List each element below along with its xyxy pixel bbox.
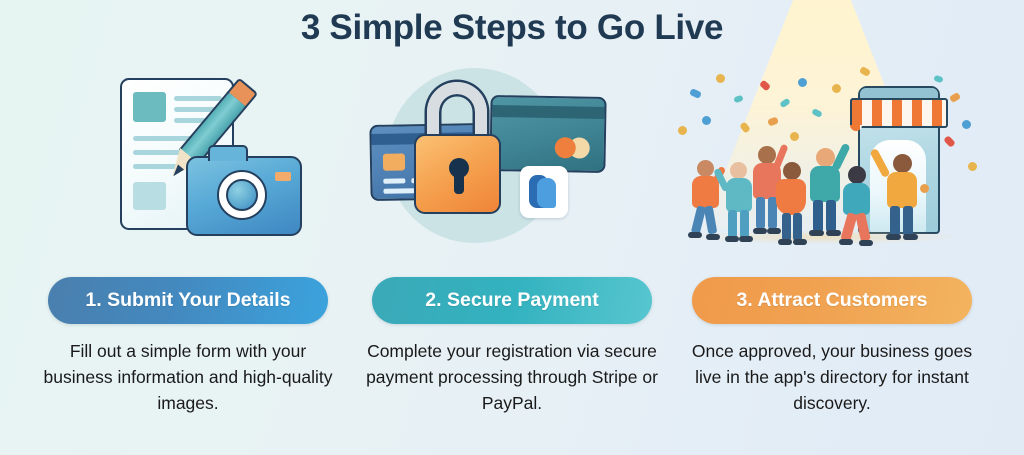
camera-lens bbox=[217, 170, 267, 220]
person-shoe bbox=[688, 232, 702, 238]
confetti-piece bbox=[949, 92, 961, 103]
confetti-piece bbox=[832, 84, 841, 93]
padlock-body-icon bbox=[414, 134, 501, 214]
confetti-piece bbox=[716, 74, 725, 83]
step-3-illustration bbox=[672, 62, 992, 262]
step-2-pill-label: 2. Secure Payment bbox=[425, 289, 598, 312]
page-title: 3 Simple Steps to Go Live bbox=[0, 8, 1024, 48]
person-head bbox=[697, 160, 714, 177]
step-2-illustration bbox=[352, 62, 672, 262]
camera-flash-icon bbox=[275, 172, 291, 181]
step-1-illustration bbox=[28, 62, 348, 262]
person-figure bbox=[838, 166, 878, 246]
camera-lens-inner bbox=[226, 179, 258, 211]
person-leg bbox=[890, 206, 900, 236]
person-leg bbox=[793, 213, 802, 241]
step-2-caption: Complete your registration via secure pa… bbox=[358, 338, 666, 416]
person-head bbox=[893, 154, 912, 173]
person-shoe bbox=[809, 230, 824, 236]
person-head bbox=[730, 162, 747, 179]
confetti-piece bbox=[968, 162, 977, 171]
person-figure bbox=[880, 154, 924, 244]
storefront-awning-scallop bbox=[850, 125, 948, 136]
person-head bbox=[848, 166, 866, 184]
confetti-piece bbox=[933, 75, 943, 83]
person-leg bbox=[813, 200, 823, 232]
confetti-piece bbox=[790, 132, 799, 141]
confetti-piece bbox=[689, 88, 702, 99]
person-torso bbox=[776, 179, 806, 215]
confetti-piece bbox=[678, 126, 687, 135]
step-3-pill-label: 3. Attract Customers bbox=[736, 289, 927, 312]
person-leg bbox=[903, 206, 913, 236]
person-shoe bbox=[886, 234, 901, 240]
card-number-line bbox=[383, 178, 405, 183]
camera-icon bbox=[186, 156, 302, 236]
paypal-p-front bbox=[537, 178, 556, 208]
person-shoe bbox=[859, 240, 873, 246]
person-torso bbox=[810, 166, 840, 202]
person-leg bbox=[826, 200, 836, 232]
person-shoe bbox=[839, 239, 853, 245]
person-torso bbox=[843, 183, 870, 215]
confetti-piece bbox=[943, 135, 956, 148]
step-1-pill-label: 1. Submit Your Details bbox=[85, 289, 290, 312]
person-shoe bbox=[706, 234, 720, 240]
confetti-piece bbox=[962, 120, 971, 129]
step-column-2: 2. Secure Payment Complete your registra… bbox=[352, 62, 672, 442]
document-image-block-icon bbox=[133, 182, 166, 210]
step-1-pill[interactable]: 1. Submit Your Details bbox=[48, 277, 328, 324]
confetti-piece bbox=[920, 184, 929, 193]
person-leg bbox=[728, 210, 737, 238]
step-1-caption: Fill out a simple form with your busines… bbox=[34, 338, 342, 416]
camera-viewfinder bbox=[208, 145, 248, 161]
step-column-1: 1. Submit Your Details Fill out a simple… bbox=[28, 62, 348, 442]
document-image-block-icon bbox=[133, 92, 166, 122]
person-torso bbox=[887, 172, 917, 208]
storefront-awning-icon bbox=[850, 98, 948, 128]
document-text-line bbox=[174, 96, 222, 101]
step-3-pill[interactable]: 3. Attract Customers bbox=[692, 277, 972, 324]
step-column-3: 3. Attract Customers Once approved, your… bbox=[672, 62, 992, 442]
confetti-piece bbox=[798, 78, 807, 87]
person-leg bbox=[756, 197, 765, 229]
person-leg bbox=[782, 213, 791, 241]
person-shoe bbox=[778, 239, 792, 245]
person-leg bbox=[855, 212, 871, 241]
confetti-piece bbox=[733, 95, 743, 103]
person-shoe bbox=[753, 228, 767, 234]
step-3-caption: Once approved, your business goes live i… bbox=[678, 338, 986, 416]
confetti-piece bbox=[702, 116, 711, 125]
step-2-pill[interactable]: 2. Secure Payment bbox=[372, 277, 652, 324]
card-chip-icon bbox=[383, 153, 405, 170]
person-head bbox=[783, 162, 801, 180]
card-magnetic-stripe bbox=[492, 105, 604, 119]
credit-card-teal-icon bbox=[489, 95, 606, 173]
person-leg bbox=[704, 205, 718, 234]
paypal-logo-icon bbox=[520, 166, 568, 218]
infographic-canvas: 3 Simple Steps to Go Live bbox=[0, 0, 1024, 455]
padlock-keyslot-icon bbox=[454, 172, 464, 194]
person-shoe bbox=[725, 236, 739, 242]
person-shoe bbox=[903, 234, 918, 240]
